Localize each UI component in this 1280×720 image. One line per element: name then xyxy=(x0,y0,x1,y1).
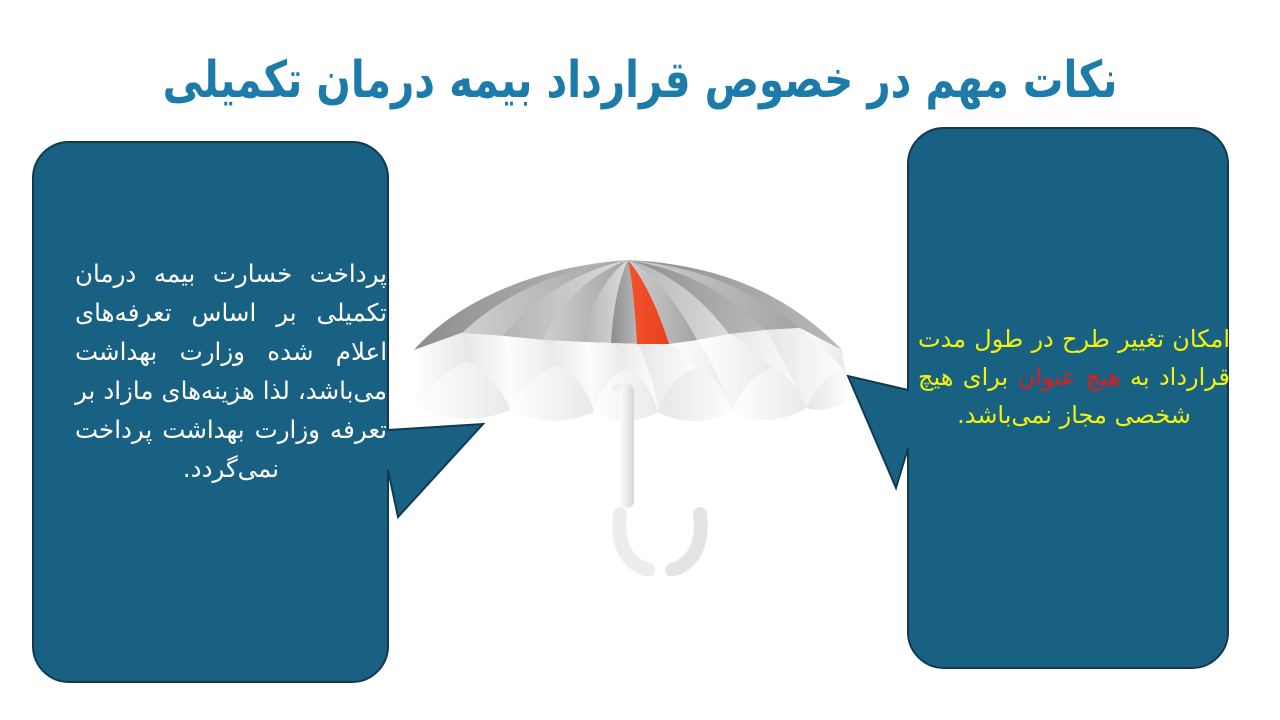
page-title: نکات مهم در خصوص قرارداد بیمه درمان تکمی… xyxy=(38,52,1241,109)
callout-right-text: امکان تغییر طرح در طول مدت قرارداد به هی… xyxy=(918,320,1230,434)
umbrella-hook-right xyxy=(672,514,701,570)
callout-right-text-highlight: هیچ عنوان xyxy=(1018,363,1121,391)
slide-canvas: نکات مهم در خصوص قرارداد بیمه درمان تکمی… xyxy=(0,0,1280,720)
callout-left-text: پرداخت خسارت بیمه درمان تکمیلی بر اساس ت… xyxy=(75,254,387,488)
umbrella-hook-left xyxy=(619,514,648,570)
callout-right[interactable]: امکان تغییر طرح در طول مدت قرارداد به هی… xyxy=(830,128,1240,673)
callout-left[interactable]: پرداخت خسارت بیمه درمان تکمیلی بر اساس ت… xyxy=(33,142,453,687)
umbrella-shaft xyxy=(620,384,634,508)
umbrella-illustration xyxy=(404,246,854,576)
umbrella-svg xyxy=(404,246,854,576)
